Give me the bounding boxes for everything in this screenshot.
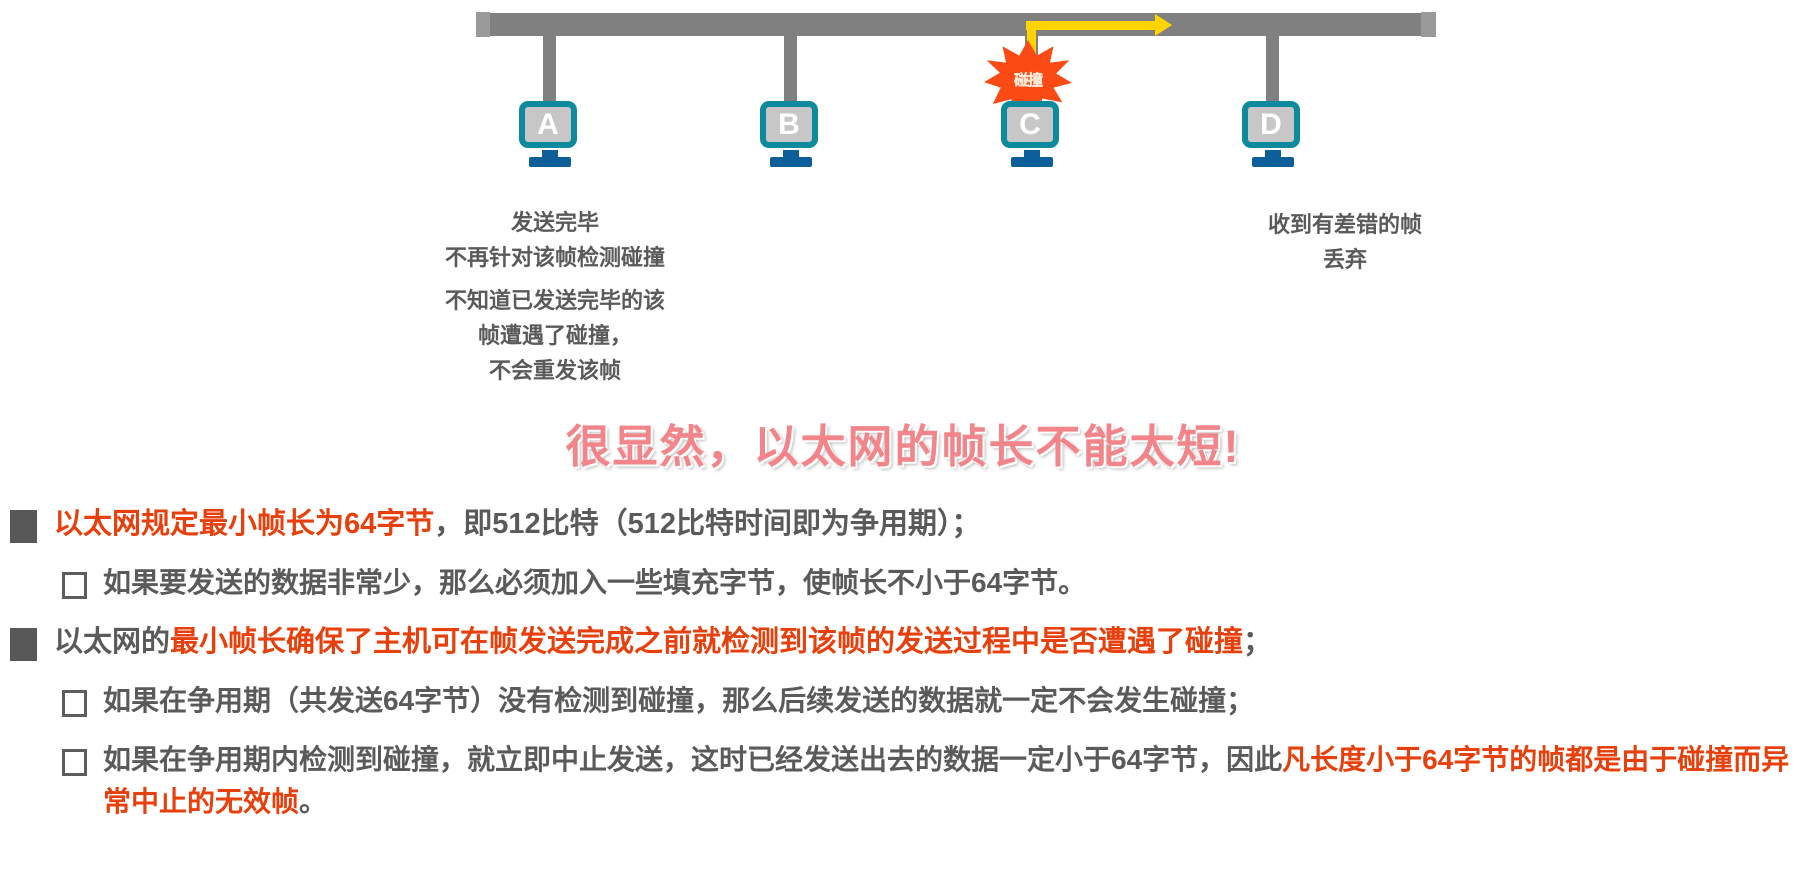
monitor-a-neck xyxy=(542,150,558,157)
monitor-c: C xyxy=(1001,101,1059,148)
signal-arrow-icon xyxy=(1155,14,1172,36)
filled-square-bullet-icon xyxy=(10,510,37,543)
bullet-text-segment: 以太网规定最小帧长为64字节 xyxy=(54,508,434,540)
monitor-d-neck xyxy=(1265,150,1281,157)
bullet-text-segment: ，即512比特（512比特时间即为争用期）； xyxy=(434,508,980,540)
monitor-b-neck xyxy=(783,150,799,157)
hollow-square-bullet-icon xyxy=(62,749,87,776)
ethernet-bus-diagram: 碰撞 A B C D 发送完毕 不再针对该帧检测碰撞 不知道已发送完毕的该 帧 xyxy=(0,0,1806,400)
bullet-text: 如果在争用期（共发送64字节）没有检测到碰撞，那么后续发送的数据就一定不会发生碰… xyxy=(103,680,1254,722)
monitor-d-base xyxy=(1252,157,1294,167)
monitor-c-neck xyxy=(1024,150,1040,157)
bus-cable xyxy=(476,13,1436,36)
bullet-text-segment: 如果在争用期（共发送64字节）没有检测到碰撞，那么后续发送的数据就一定不会发生碰… xyxy=(103,685,1254,716)
drop-line-b xyxy=(784,30,797,108)
station-b: B xyxy=(760,101,822,167)
station-a: A xyxy=(519,101,581,167)
monitor-a: A xyxy=(519,101,577,148)
monitor-b-base xyxy=(770,157,812,167)
monitor-b: B xyxy=(760,101,818,148)
station-c-label: C xyxy=(1019,110,1041,140)
bullet-text-segment: 以太网的 xyxy=(54,626,170,658)
caption-left-line-2: 不再针对该帧检测碰撞 xyxy=(360,240,750,275)
caption-left-line-5: 不会重发该帧 xyxy=(360,353,750,388)
bullet-row: 以太网的最小帧长确保了主机可在帧发送完成之前就检测到该帧的发送过程中是否遭遇了碰… xyxy=(0,621,1806,663)
monitor-a-base xyxy=(529,157,571,167)
drop-line-a xyxy=(543,30,556,108)
station-d: D xyxy=(1242,101,1304,167)
bullet-text: 以太网规定最小帧长为64字节，即512比特（512比特时间即为争用期）； xyxy=(54,503,981,545)
caption-right-line-1: 收到有差错的帧 xyxy=(1185,207,1505,242)
caption-left-line-3: 不知道已发送完毕的该 xyxy=(360,283,750,318)
bullet-text-segment: 如果在争用期内检测到碰撞，就立即中止发送，这时已经发送出去的数据一定小于64字节… xyxy=(103,744,1282,775)
station-d-label: D xyxy=(1260,110,1282,140)
bullet-text-segment: 最小帧长确保了主机可在帧发送完成之前就检测到该帧的发送过程中是否遭遇了碰撞 xyxy=(170,626,1243,658)
filled-square-bullet-icon xyxy=(10,628,37,661)
caption-right-line-2: 丢弃 xyxy=(1185,242,1505,277)
station-a-label: A xyxy=(537,110,559,140)
caption-left-line-4: 帧遭遇了碰撞， xyxy=(360,318,750,353)
bullet-text-segment: 如果要发送的数据非常少，那么必须加入一些填充字节，使帧长不小于64字节。 xyxy=(103,567,1086,598)
hollow-square-bullet-icon xyxy=(62,572,87,599)
bus-terminator-left xyxy=(476,12,490,37)
bullet-text-segment: ； xyxy=(1243,626,1272,658)
bus-terminator-right xyxy=(1421,12,1436,37)
caption-left: 发送完毕 不再针对该帧检测碰撞 不知道已发送完毕的该 帧遭遇了碰撞， 不会重发该… xyxy=(360,205,750,388)
station-c: C xyxy=(1001,101,1063,167)
bullet-row: 以太网规定最小帧长为64字节，即512比特（512比特时间即为争用期）； xyxy=(0,503,1806,545)
monitor-c-base xyxy=(1011,157,1053,167)
hollow-square-bullet-icon xyxy=(62,690,87,717)
station-b-label: B xyxy=(778,110,800,140)
bullet-list: 以太网规定最小帧长为64字节，即512比特（512比特时间即为争用期）；如果要发… xyxy=(0,503,1806,840)
bullet-text-segment: 。 xyxy=(299,786,327,817)
bullet-row: 如果要发送的数据非常少，那么必须加入一些填充字节，使帧长不小于64字节。 xyxy=(0,562,1806,604)
monitor-d: D xyxy=(1242,101,1300,148)
bullet-row: 如果在争用期内检测到碰撞，就立即中止发送，这时已经发送出去的数据一定小于64字节… xyxy=(0,739,1806,823)
signal-horizontal xyxy=(1026,21,1161,30)
bullet-text: 以太网的最小帧长确保了主机可在帧发送完成之前就检测到该帧的发送过程中是否遭遇了碰… xyxy=(54,621,1272,663)
drop-line-d xyxy=(1266,30,1279,108)
caption-left-line-1: 发送完毕 xyxy=(360,205,750,240)
collision-label: 碰撞 xyxy=(1014,69,1042,90)
caption-right: 收到有差错的帧 丢弃 xyxy=(1185,207,1505,277)
bullet-text: 如果要发送的数据非常少，那么必须加入一些填充字节，使帧长不小于64字节。 xyxy=(103,562,1086,604)
page-headline: 很显然，以太网的帧长不能太短! xyxy=(0,410,1806,475)
bullet-text: 如果在争用期内检测到碰撞，就立即中止发送，这时已经发送出去的数据一定小于64字节… xyxy=(103,739,1806,823)
bullet-row: 如果在争用期（共发送64字节）没有检测到碰撞，那么后续发送的数据就一定不会发生碰… xyxy=(0,680,1806,722)
